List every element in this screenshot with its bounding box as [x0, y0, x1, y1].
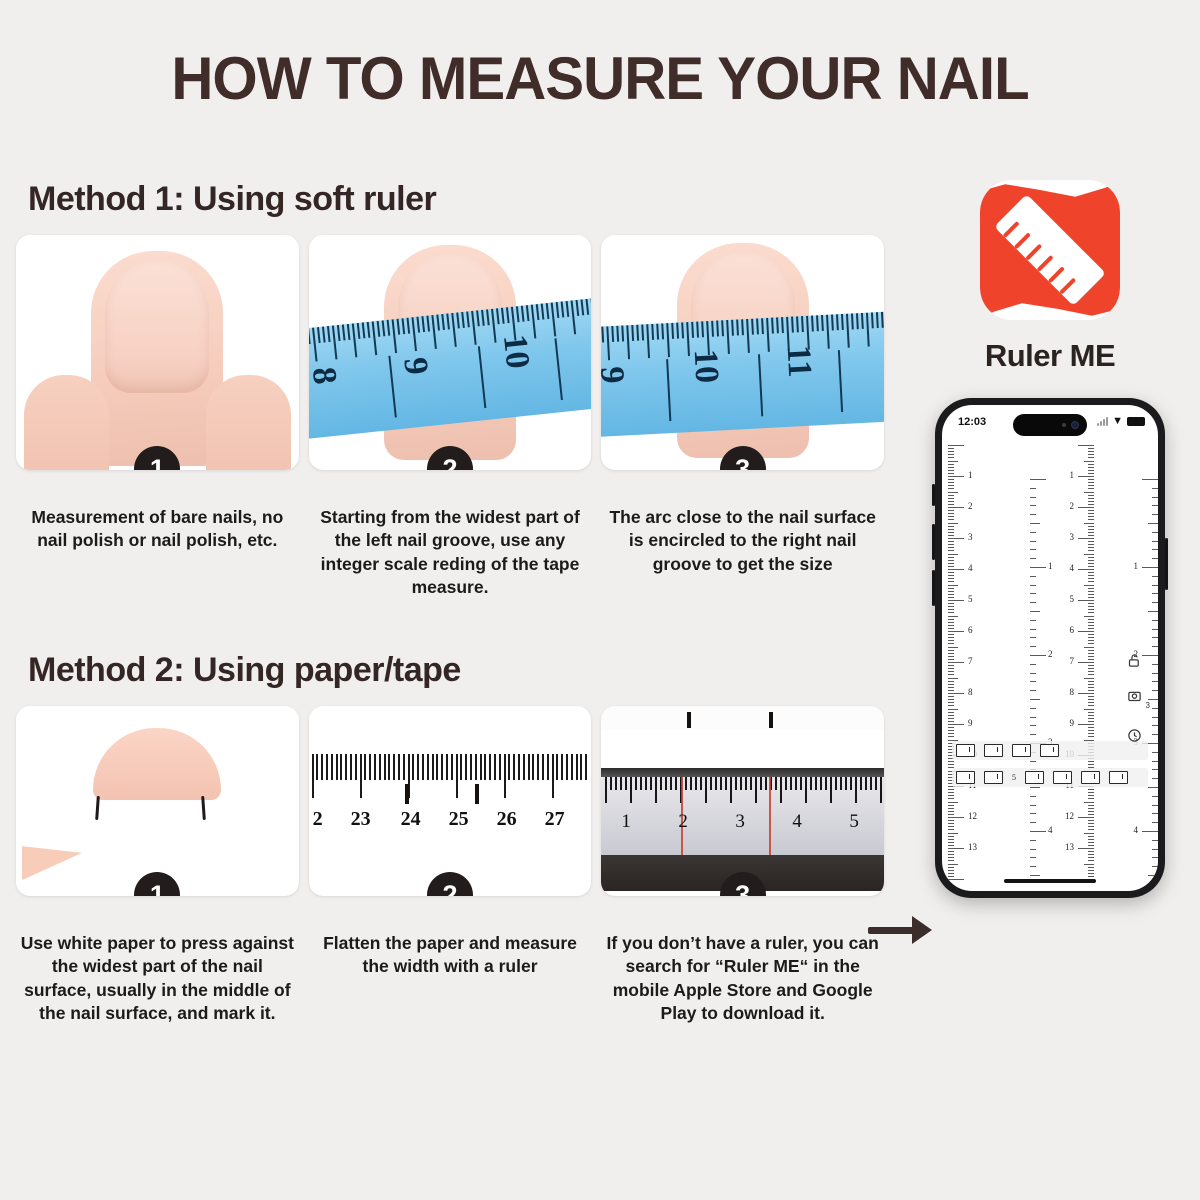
step-caption: If you don’t have a ruler, you can searc…: [601, 932, 884, 1025]
ruler-number: 2: [678, 811, 688, 833]
paper-ruler: 2 23 24 25 26 27: [309, 754, 592, 850]
step-caption: Measurement of bare nails, no nail polis…: [16, 506, 299, 553]
scale-label: 7: [1070, 656, 1075, 666]
widget-chip[interactable]: [1012, 744, 1031, 757]
scale-label: 4: [1070, 563, 1075, 573]
app-block[interactable]: Ruler ME: [900, 160, 1200, 374]
phone-body: 12:03 ▼ 12345678910111213 1234 123456789…: [935, 398, 1165, 898]
knuckle-right: [206, 375, 291, 470]
step-card: 1 Use white paper to press against the w…: [16, 706, 299, 1025]
scale-label: 9: [1070, 718, 1075, 728]
ruler-number: 1: [621, 811, 631, 833]
nail-plate: [105, 261, 209, 393]
sensor-dot-icon: [1062, 423, 1066, 427]
scale-label: 6: [968, 625, 973, 635]
scale-label: 3: [1070, 532, 1075, 542]
scale-label: 12: [1065, 811, 1074, 821]
ruler-number: 3: [735, 811, 745, 833]
arrow-icon: [868, 916, 940, 944]
step-caption: Starting from the widest part of the lef…: [309, 506, 592, 599]
knuckle-left: [24, 375, 109, 470]
measure-line-end: [769, 777, 771, 855]
volume-down-button[interactable]: [932, 570, 935, 606]
tape-number: 8: [309, 365, 343, 386]
front-camera-icon: [1071, 421, 1079, 429]
tape-measure-photo-end: 9 10 11 3: [601, 235, 884, 470]
ruler-number: 25: [449, 808, 469, 831]
camera-icon-wrap[interactable]: 3: [1127, 688, 1142, 708]
widget-chip[interactable]: [984, 744, 1003, 757]
step-badge: 2: [427, 872, 473, 896]
widget-row[interactable]: [952, 741, 1148, 760]
method-1-steps: 1 Measurement of bare nails, no nail pol…: [0, 235, 900, 599]
unlock-icon[interactable]: [1127, 653, 1142, 668]
camera-icon[interactable]: [1127, 688, 1142, 703]
paper-press-photo: 1: [16, 706, 299, 896]
finger-corner: [22, 846, 82, 880]
widget-chip[interactable]: [1053, 771, 1072, 784]
scale-label: 1: [1134, 561, 1139, 571]
finger-illustration: [91, 251, 223, 466]
battery-icon: [1127, 417, 1145, 426]
scale-left: 12345678910111213: [948, 439, 988, 891]
step-caption: Use white paper to press against the wid…: [16, 932, 299, 1025]
ruler-scales: 12345678910111213 1234 12345678910111213…: [942, 439, 1158, 891]
widget-chip[interactable]: [1040, 744, 1059, 757]
scale-label: 4: [1134, 825, 1139, 835]
step-card: 1 2 3 4 5 3 If you don’t have a ruler, y…: [601, 706, 884, 1025]
tape-number: 10: [495, 333, 536, 371]
tape-measure-photo-start: 8 9 10 2: [309, 235, 592, 470]
widget-label: 5: [1012, 773, 1016, 782]
widget-chip[interactable]: [1109, 771, 1128, 784]
metal-ruler-photo: 1 2 3 4 5 3: [601, 706, 884, 896]
method-1-heading: Method 1: Using soft ruler: [28, 180, 900, 219]
tape-number: 9: [395, 356, 435, 377]
widget-chip[interactable]: [956, 771, 975, 784]
scale-label: 1: [968, 470, 973, 480]
scale-label: 5: [968, 594, 973, 604]
method-2-steps: 1 Use white paper to press against the w…: [0, 706, 900, 1025]
scale-label: 5: [1070, 594, 1075, 604]
widget-row-top[interactable]: 5: [952, 741, 1148, 795]
scale-label: 8: [968, 687, 973, 697]
pen-mark-left: [95, 796, 100, 820]
status-bar-indicators: ▼: [1097, 416, 1145, 427]
ruler-top-edge: [601, 768, 884, 777]
scale-label: 13: [968, 842, 977, 852]
app-name-label: Ruler ME: [900, 338, 1200, 374]
wifi-icon: ▼: [1112, 416, 1123, 427]
step-caption: The arc close to the nail surface is enc…: [601, 506, 884, 576]
tape-measure-strip: 9 10 11: [601, 311, 884, 438]
widget-chip[interactable]: [1025, 771, 1044, 784]
ruler-number: 5: [849, 811, 859, 833]
step-caption: Flatten the paper and measure the width …: [309, 932, 592, 979]
nail-arc-impression: [93, 728, 221, 800]
mute-switch[interactable]: [932, 484, 935, 506]
scale-label: 4: [968, 563, 973, 573]
nail-photo-bare: 1: [16, 235, 299, 470]
method-2-heading: Method 2: Using paper/tape: [28, 651, 900, 690]
page-title: HOW TO MEASURE YOUR NAIL: [18, 0, 1182, 113]
home-indicator[interactable]: [1004, 879, 1096, 883]
ruler-number: 2: [313, 808, 323, 831]
scale-label: 2: [968, 501, 973, 511]
widget-row[interactable]: 5: [952, 768, 1148, 787]
scale-label: 9: [968, 718, 973, 728]
power-button[interactable]: [1165, 538, 1168, 590]
step-card: 8 9 10 2 Starting from the widest part o…: [309, 235, 592, 599]
ruler-app-icon[interactable]: [980, 180, 1120, 320]
scale-label: 2: [1070, 501, 1075, 511]
tape-measure-strip: 8 9 10: [309, 297, 592, 440]
phone-screen[interactable]: 12:03 ▼ 12345678910111213 1234 123456789…: [942, 405, 1158, 891]
signal-icon: [1097, 417, 1108, 426]
scale-label: 3: [968, 532, 973, 542]
scale-label: 1: [1070, 470, 1075, 480]
ruler-number: 27: [545, 808, 565, 831]
scale-label: 13: [1065, 842, 1074, 852]
widget-chip[interactable]: [956, 744, 975, 757]
tool-icons[interactable]: 3: [1127, 653, 1142, 743]
app-promo-column: Ruler ME 12:03 ▼: [900, 160, 1200, 1200]
scale-label: 12: [968, 811, 977, 821]
ruler-number: 23: [351, 808, 371, 831]
scale-center-right: 12345678910111213: [1050, 439, 1094, 891]
tape-number: 9: [601, 366, 631, 385]
widget-chip[interactable]: [1081, 771, 1100, 784]
tape-number: 10: [686, 348, 726, 384]
dynamic-island: [1013, 414, 1087, 436]
ruler-face: 1 2 3 4 5: [601, 777, 884, 855]
methods-container: Method 1: Using soft ruler 1 Measurement…: [0, 160, 900, 1025]
ruler-number: 4: [792, 811, 802, 833]
status-bar-time: 12:03: [958, 416, 986, 428]
white-paper: [22, 712, 293, 890]
volume-up-button[interactable]: [932, 524, 935, 560]
tape-number: 11: [779, 344, 819, 378]
scale-label: 7: [968, 656, 973, 666]
scale-label: 8: [1070, 687, 1075, 697]
flat-ruler-photo: 2 23 24 25 26 27 2: [309, 706, 592, 896]
ruler-number: 24: [401, 808, 421, 831]
camera-count-badge: 3: [1146, 701, 1150, 710]
scale-label: 6: [1070, 625, 1075, 635]
ruler-number: 26: [497, 808, 517, 831]
step-card: 9 10 11 3 The arc close to the nail surf…: [601, 235, 884, 599]
widget-chip[interactable]: [984, 771, 1003, 784]
step-card: 2 23 24 25 26 27 2 Flatten the paper and…: [309, 706, 592, 1025]
tape-tick-marks: [601, 311, 884, 366]
step-card: 1 Measurement of bare nails, no nail pol…: [16, 235, 299, 599]
phone-mockup: 12:03 ▼ 12345678910111213 1234 123456789…: [935, 398, 1165, 898]
clock-icon[interactable]: [1127, 728, 1142, 743]
paper-strip: [601, 706, 884, 730]
